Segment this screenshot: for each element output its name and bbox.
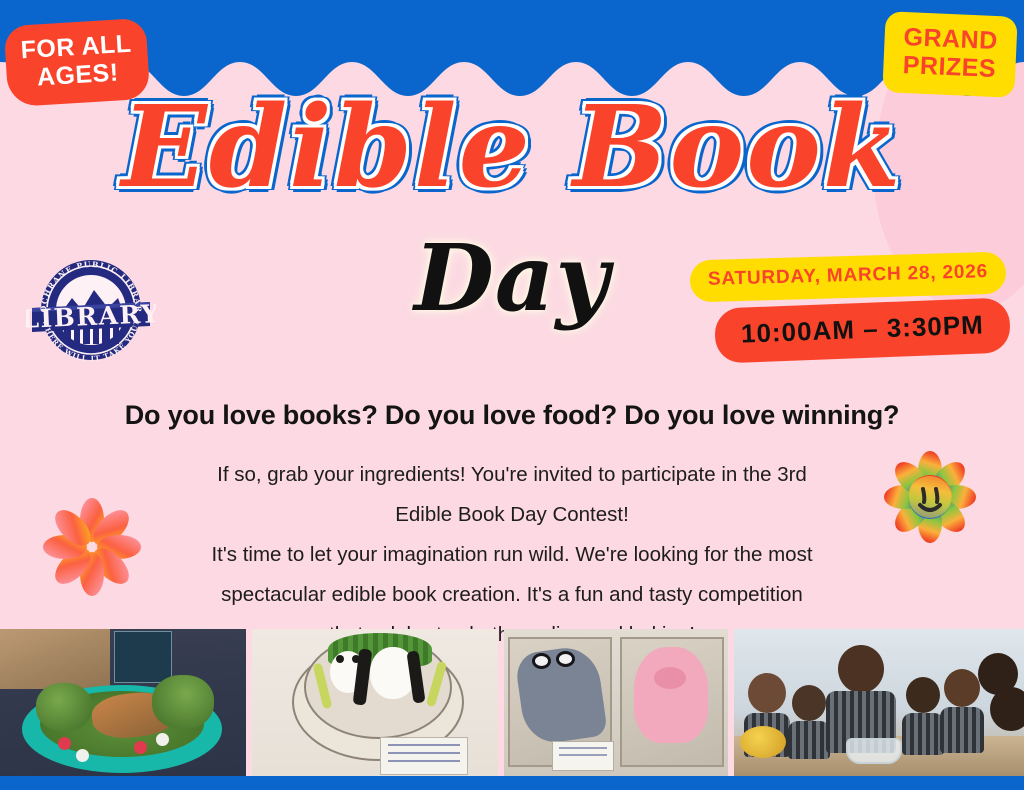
photo-child-head: [792, 685, 826, 721]
title-line-edible-book: Edible Book: [0, 92, 1024, 204]
paragraph-line: It's time to let your imagination run wi…: [0, 535, 1024, 575]
flower-rainbow-smiley-icon: [878, 443, 983, 548]
photo-mixing-bowl: [846, 738, 902, 764]
photo-pig-cake: [634, 647, 708, 743]
photo-child-head: [748, 673, 786, 713]
photo-radish: [58, 737, 71, 750]
photo-mushroom: [76, 749, 89, 762]
photo-book-sign: [114, 631, 172, 683]
body-paragraph: If so, grab your ingredients! You're inv…: [0, 455, 1024, 655]
photo-strip: [0, 629, 1024, 776]
event-time-badge: 10:00AM – 3:30PM: [714, 297, 1011, 363]
photo-rice-panda: [252, 629, 498, 776]
photo-elephant-piggie-cakes: [504, 629, 728, 776]
photo-broccoli: [152, 675, 214, 729]
photo-child-head: [990, 687, 1024, 731]
headline-text: Do you love books? Do you love food? Do …: [0, 400, 1024, 431]
photo-broccoli: [36, 683, 92, 731]
poster-canvas: FOR ALL AGES! GRAND PRIZES Edible Book D…: [0, 0, 1024, 790]
photo-entry-card: [380, 737, 468, 775]
photo-backdrop: [0, 629, 110, 689]
photo-entry-card: [552, 741, 614, 771]
photo-mushroom: [156, 733, 169, 746]
photo-radish: [134, 741, 147, 754]
photo-child-head: [906, 677, 940, 713]
photo-veggie-book-diorama: [0, 629, 246, 776]
photo-panda-eye: [336, 655, 344, 663]
poster-title: Edible Book: [0, 92, 1024, 204]
photo-elephant-glasses: [556, 651, 575, 667]
library-logo: LIBRARY COCHRANE PUBLIC LIBRARY WHERE WI…: [26, 250, 156, 365]
photo-kids-baking: [734, 629, 1024, 776]
paragraph-line: If so, grab your ingredients! You're inv…: [0, 455, 1024, 495]
photo-fruit-bowl: [740, 726, 786, 758]
photo-panda-eye: [352, 655, 360, 663]
photo-child-apron: [902, 713, 944, 755]
photo-child-apron: [940, 707, 984, 753]
photo-pig-snout: [654, 667, 686, 689]
photo-instructor-head: [838, 645, 884, 693]
photo-child-apron: [788, 721, 830, 759]
paragraph-line: spectacular edible book creation. It's a…: [0, 575, 1024, 615]
paragraph-line: Edible Book Day Contest!: [0, 495, 1024, 535]
event-date-badge: SATURDAY, MARCH 28, 2026: [689, 252, 1006, 303]
photo-elephant-glasses: [532, 653, 551, 669]
photo-child-head: [944, 669, 980, 707]
flower-gradient-orange-icon: [40, 495, 145, 600]
